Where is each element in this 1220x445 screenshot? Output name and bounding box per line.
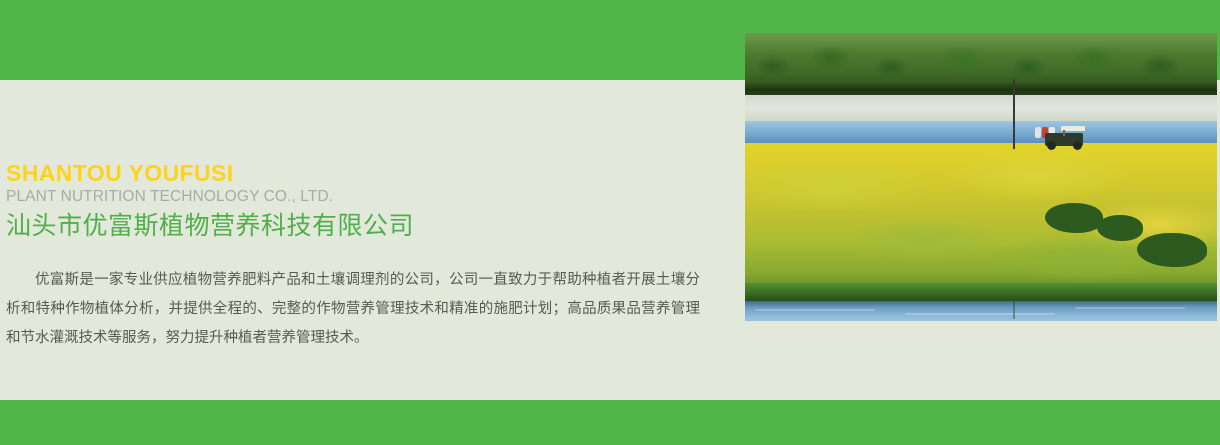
photo-tractor-wheel	[1073, 141, 1082, 150]
bottom-green-band	[0, 400, 1220, 445]
photo-tractor-post	[1063, 130, 1065, 136]
photo-golden-rice-field	[745, 143, 1217, 291]
photo-water-ripple	[905, 313, 1055, 315]
photo-harvester-tractor	[1033, 125, 1097, 151]
farm-field-photo	[745, 33, 1217, 321]
company-name-english: SHANTOU YOUFUSI	[0, 160, 730, 186]
photo-foreground-pond	[745, 301, 1217, 321]
photo-utility-pole	[1013, 79, 1015, 149]
photo-shrub	[1097, 215, 1143, 241]
company-subtitle-english: PLANT NUTRITION TECHNOLOGY CO., LTD.	[0, 186, 730, 208]
company-name-chinese: 汕头市优富斯植物营养科技有限公司	[0, 208, 730, 244]
photo-shrub	[1137, 233, 1207, 267]
page-root: SHANTOU YOUFUSI PLANT NUTRITION TECHNOLO…	[0, 0, 1220, 445]
photo-shrub	[1045, 203, 1103, 233]
company-intro-paragraph: 优富斯是一家专业供应植物营养肥料产品和土壤调理剂的公司，公司一直致力于帮助种植者…	[0, 266, 700, 353]
photo-water-ripple	[1075, 307, 1185, 309]
photo-water-ripple	[755, 309, 875, 311]
photo-pole-reflection	[1013, 301, 1015, 319]
photo-tractor-wheel	[1047, 141, 1056, 150]
company-intro-block: SHANTOU YOUFUSI PLANT NUTRITION TECHNOLO…	[0, 160, 730, 353]
photo-worker-figure	[1035, 127, 1041, 138]
